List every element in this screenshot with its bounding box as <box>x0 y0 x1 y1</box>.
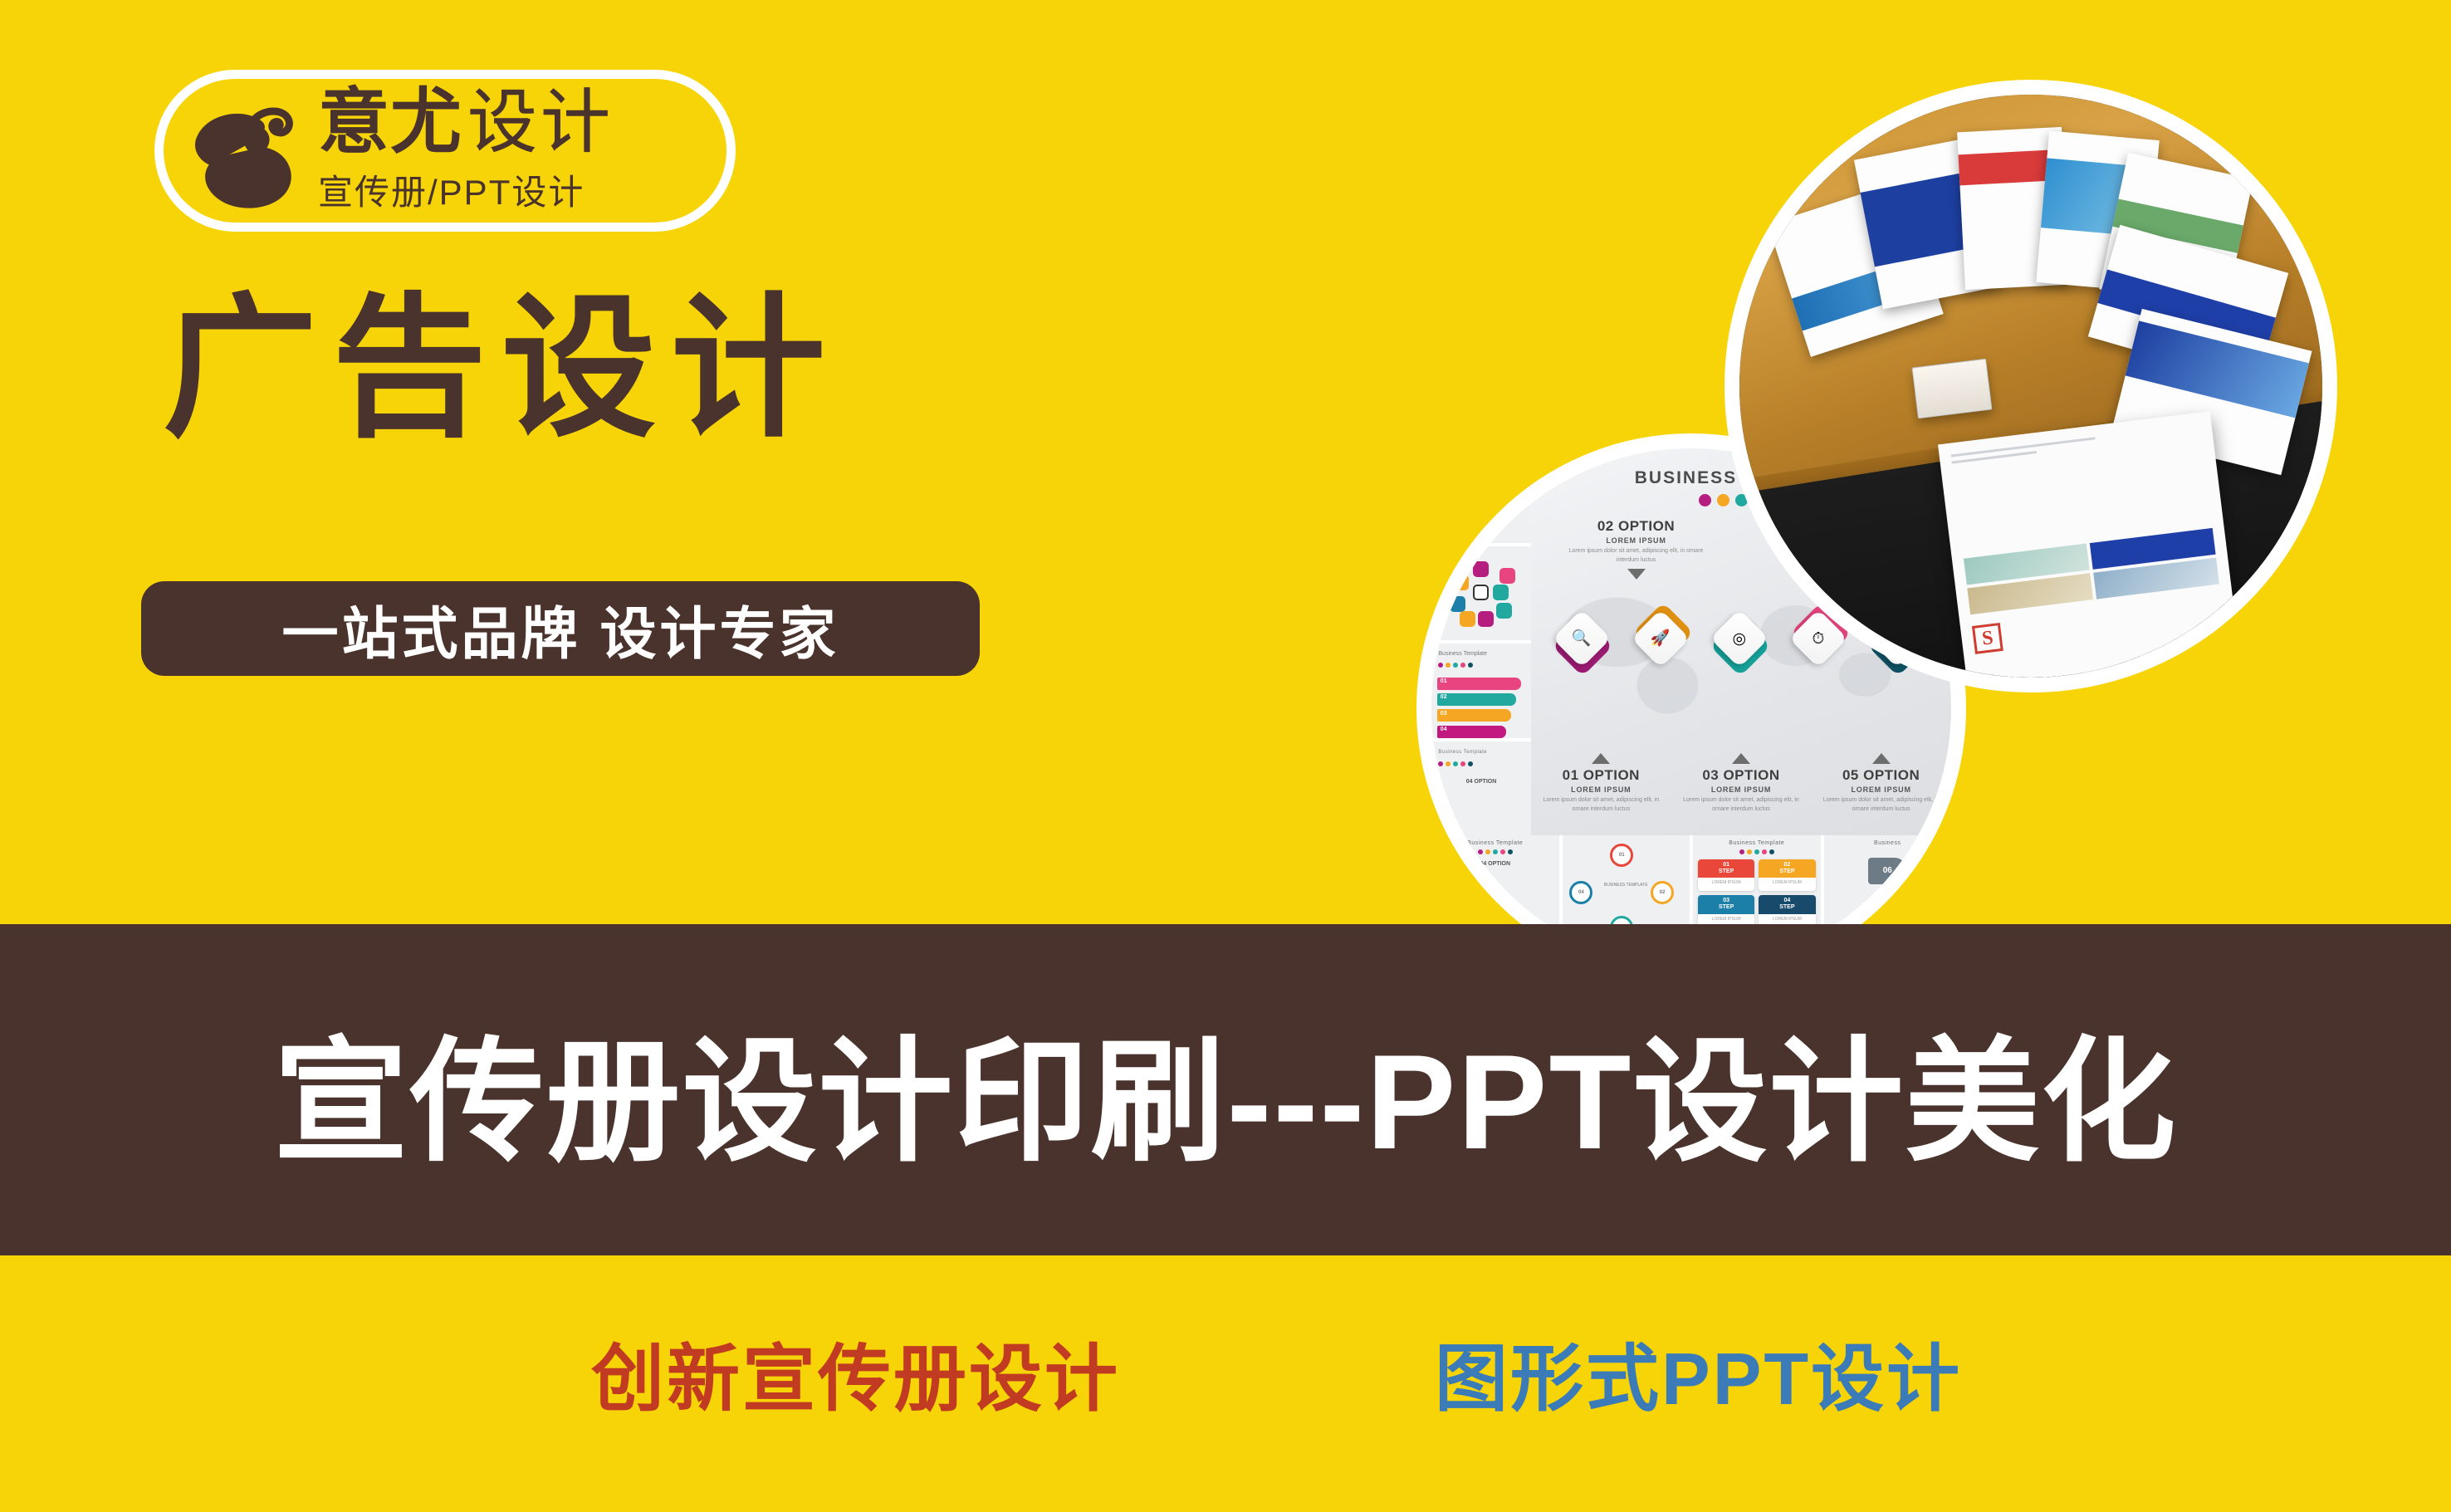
diamond-node: 🚀 <box>1636 613 1688 664</box>
option-subheading: LOREM IPSUM <box>1567 536 1705 545</box>
thumbnail-option-slide: Business Template 04 OPTION <box>1431 741 1531 836</box>
option-body: Lorem ipsum dolor sit amet, adipiscing e… <box>1567 547 1705 565</box>
steps-title: Business Template <box>1698 840 1816 846</box>
triangle-down-icon <box>1627 569 1646 580</box>
color-dot <box>1453 761 1458 766</box>
color-dot <box>1747 849 1752 854</box>
thumbnail-option-label: 04 OPTION <box>1431 779 1531 785</box>
tagline-ppt: 图形式PPT设计 <box>1435 1320 1962 1426</box>
rocket-icon-glyph: 🚀 <box>1651 630 1671 646</box>
color-dot <box>1762 849 1767 854</box>
option-body: Lorem ipsum dolor sit amet, adipiscing e… <box>1536 796 1666 814</box>
thumbnail-cross-diagram <box>1431 546 1531 641</box>
option-heading: 05 OPTION <box>1816 767 1946 784</box>
triangle-up-icon <box>1732 753 1750 764</box>
step-card: 04STEPLOREM IPSUM <box>1759 895 1815 927</box>
step-card: 01STEPLOREM IPSUM <box>1698 859 1754 891</box>
logo-brand-bold: 意尤 <box>318 86 462 158</box>
color-dot <box>1754 849 1759 854</box>
color-dot <box>1717 494 1729 506</box>
bird-seed-logo-mark-icon <box>182 89 306 213</box>
status-badge: 一站式品牌 设计专家 <box>141 581 980 676</box>
step-card: 03STEPLOREM IPSUM <box>1698 895 1754 927</box>
color-dot <box>1493 849 1498 854</box>
steps-dots <box>1698 849 1816 854</box>
options-row-bottom: 01 OPTIONLOREM IPSUMLorem ipsum dolor si… <box>1531 753 1951 814</box>
poster-canvas: 意尤 设计 宣传册/PPT设计 广告设计 一站式品牌 设计专家 <box>0 0 2451 1512</box>
color-dot <box>1460 761 1465 766</box>
ring-node: 04 <box>1569 881 1592 904</box>
thumbnail-funnel: Business Template 01020304 <box>1431 643 1531 738</box>
step-body: LOREM IPSUM <box>1759 878 1815 891</box>
diamond-node: 🔍 <box>1558 613 1609 664</box>
option-body: Lorem ipsum dolor sit amet, adipiscing e… <box>1816 796 1946 814</box>
slide-option: 05 OPTIONLOREM IPSUMLorem ipsum dolor si… <box>1816 753 1946 814</box>
ring-node: 02 <box>1651 881 1674 904</box>
magnifier-icon: 🔍 <box>1553 609 1612 668</box>
last-thumb-number: 06 <box>1868 858 1906 884</box>
color-dot <box>1739 849 1744 854</box>
rocket-icon: 🚀 <box>1632 609 1690 668</box>
brand-logo[interactable]: 意尤 设计 宣传册/PPT设计 <box>154 70 736 232</box>
funnel-label: 02 <box>1441 694 1447 700</box>
slide-option: 03 OPTIONLOREM IPSUMLorem ipsum dolor si… <box>1676 753 1807 814</box>
option-subheading: LOREM IPSUM <box>1536 785 1666 794</box>
brochure-photo-circle-image: S <box>1725 80 2337 692</box>
main-banner: 宣传册设计印刷---PPT设计美化 <box>0 924 2451 1255</box>
option-body: Lorem ipsum dolor sit amet, adipiscing e… <box>1676 796 1807 814</box>
logo-brand-thin: 设计 <box>467 87 614 157</box>
cross-node <box>1453 575 1469 590</box>
funnel-label: 01 <box>1441 678 1447 684</box>
photo-content: S <box>1739 95 2322 678</box>
cross-node <box>1496 603 1512 619</box>
cross-diagram <box>1445 560 1518 626</box>
last-thumb-title: Business <box>1829 840 1947 846</box>
slide-option: 01 OPTIONLOREM IPSUMLorem ipsum dolor si… <box>1536 753 1666 814</box>
slide-title-main: BUSINESS <box>1635 468 1737 487</box>
business-card-holder <box>1911 359 1992 419</box>
color-dot <box>1485 849 1490 854</box>
color-dot <box>1769 849 1774 854</box>
step-header: 01STEP <box>1698 859 1754 878</box>
funnel-bar <box>1437 709 1511 722</box>
triangle-up-icon <box>1872 753 1891 764</box>
triangle-up-icon <box>1592 753 1610 764</box>
funnel-bar <box>1437 678 1521 690</box>
cross-node <box>1499 568 1515 584</box>
step-card: 02STEPLOREM IPSUM <box>1759 859 1815 891</box>
ring-center-label: BUSINESS TEMPLATE <box>1601 883 1651 888</box>
ring-node: 01 <box>1610 844 1633 867</box>
thumbnail-option-title: Business Template <box>1438 750 1487 755</box>
color-dot <box>1438 761 1443 766</box>
step-header: 04STEP <box>1759 895 1815 913</box>
cross-node <box>1473 561 1489 577</box>
thumbnail-option-dots <box>1438 761 1473 766</box>
color-dot <box>1508 849 1513 854</box>
option-subheading: LOREM IPSUM <box>1676 785 1807 794</box>
footer-taglines: 创新宣传册设计 图形式PPT设计 <box>0 1255 2451 1512</box>
slide-option: 02 OPTIONLOREM IPSUMLorem ipsum dolor si… <box>1567 518 1705 580</box>
cross-node <box>1450 596 1465 612</box>
bottom-thumb-title: Business Template <box>1436 840 1554 846</box>
logo-wordmark: 意尤 设计 <box>318 86 614 158</box>
badge-label: 一站式品牌 设计专家 <box>282 588 839 670</box>
option-subheading: LOREM IPSUM <box>1816 785 1946 794</box>
funnel-bar <box>1437 726 1506 738</box>
color-dot <box>1446 761 1451 766</box>
bottom-thumb-option-label: 04 OPTION <box>1436 861 1554 867</box>
logo-text-block: 意尤 设计 宣传册/PPT设计 <box>318 86 614 215</box>
option-heading: 01 OPTION <box>1536 767 1666 784</box>
tagline-brochure: 创新宣传册设计 <box>591 1320 1120 1426</box>
color-dot <box>1500 849 1505 854</box>
magnifier-icon-glyph: 🔍 <box>1573 630 1592 646</box>
bottom-thumb-dots <box>1436 849 1554 854</box>
page-title: 广告设计 <box>163 292 840 447</box>
cross-node <box>1460 611 1475 627</box>
step-header: 02STEP <box>1759 859 1815 878</box>
funnel-label: 03 <box>1441 711 1447 717</box>
option-heading: 02 OPTION <box>1567 518 1705 535</box>
front-brochure: S <box>1938 411 2247 692</box>
color-dot <box>1478 849 1483 854</box>
thumbnail-ribbons <box>1431 448 1531 543</box>
funnel-label: 04 <box>1441 727 1447 732</box>
cross-node <box>1493 585 1509 600</box>
red-stamp-icon: S <box>1972 623 2003 654</box>
thumbnail-column: Business Template 01020304 Business Temp… <box>1431 448 1531 835</box>
logo-subtitle: 宣传册/PPT设计 <box>318 164 614 215</box>
option-heading: 03 OPTION <box>1676 767 1807 784</box>
step-body: LOREM IPSUM <box>1698 878 1754 891</box>
cross-node <box>1478 611 1494 627</box>
funnel-bars: 01020304 <box>1431 643 1531 738</box>
funnel-bar <box>1437 693 1516 706</box>
banner-headline: 宣传册设计印刷---PPT设计美化 <box>274 992 2178 1187</box>
color-dot <box>1468 761 1473 766</box>
step-card-grid: 01STEPLOREM IPSUM02STEPLOREM IPSUM03STEP… <box>1698 859 1816 927</box>
color-dot <box>1699 494 1711 506</box>
step-header: 03STEP <box>1698 895 1754 913</box>
